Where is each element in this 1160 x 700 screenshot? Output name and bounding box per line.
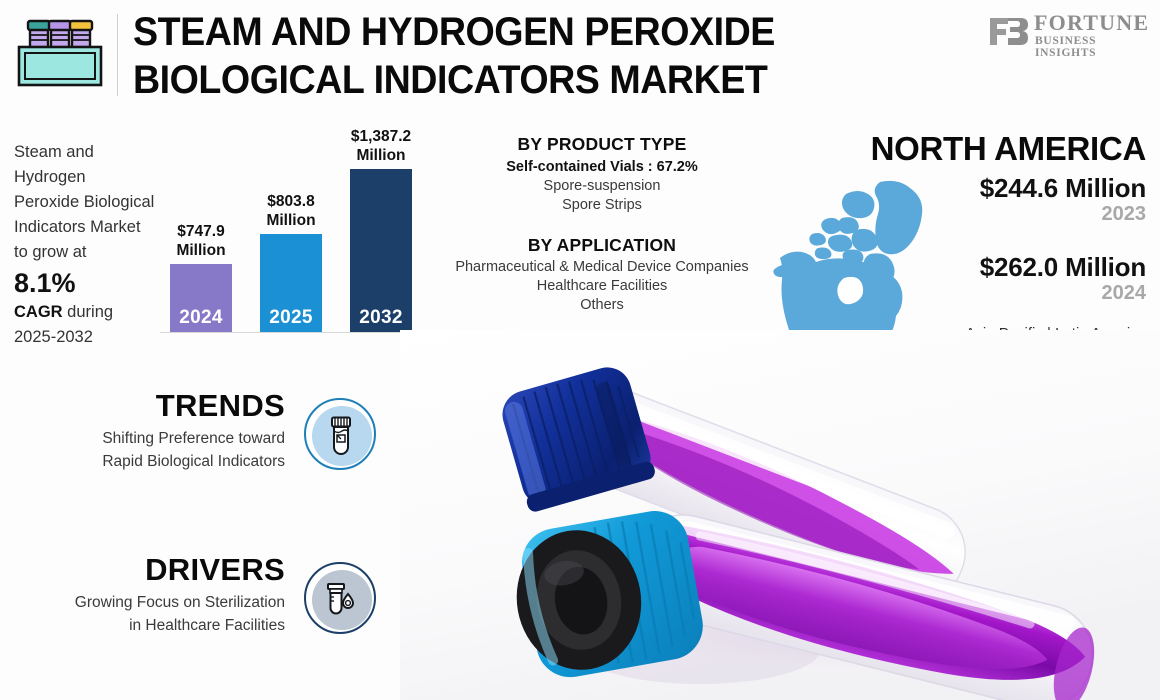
bar-year-2024: 2024 xyxy=(170,307,232,329)
bar-year-2025: 2025 xyxy=(260,307,322,329)
segments-panel: BY PRODUCT TYPE Self-contained Vials : 6… xyxy=(432,134,772,313)
drivers-icon-circle xyxy=(304,562,376,634)
test-tubes-photo xyxy=(400,330,1160,700)
title-line-2: BIOLOGICAL INDICATORS MARKET xyxy=(133,56,885,104)
market-summary-text: Steam and Hydrogen Peroxide Biological I… xyxy=(14,140,164,350)
product-type-item-0: Spore-suspension xyxy=(432,178,772,194)
application-item-0: Pharmaceutical & Medical Device Companie… xyxy=(432,259,772,275)
region-value-2024: $262.0 Million xyxy=(980,252,1146,283)
bar-value-label-2025: $803.8 Million xyxy=(266,193,315,234)
page-title: STEAM AND HYDROGEN PEROXIDE BIOLOGICAL I… xyxy=(133,8,933,104)
by-product-type-heading: BY PRODUCT TYPE xyxy=(432,134,772,155)
bar-group-2032: $1,387.2 Million 2032 xyxy=(350,169,412,332)
drivers-heading: DRIVERS xyxy=(0,552,285,588)
intro-line-3: Indicators Market xyxy=(14,218,141,236)
infographic-root: STEAM AND HYDROGEN PEROXIDE BIOLOGICAL I… xyxy=(0,0,1160,700)
application-item-1: Healthcare Facilities xyxy=(432,278,772,294)
header-divider xyxy=(117,14,118,96)
intro-line-2: Peroxide Biological xyxy=(14,193,154,211)
trends-text-line-2: Rapid Biological Indicators xyxy=(0,450,285,473)
intro-line-4: to grow at xyxy=(14,243,86,261)
cagr-value: 8.1% xyxy=(14,267,164,300)
logo-subtitle: BUSINESS INSIGHTS xyxy=(1035,35,1148,59)
bar-value-label-2024: $747.9 Million xyxy=(176,223,225,264)
bar-rect-2032: 2032 xyxy=(350,169,412,332)
region-value-2023: $244.6 Million xyxy=(980,173,1146,204)
drivers-block: DRIVERS Growing Focus on Sterilization i… xyxy=(0,552,285,637)
forecast-period: 2025-2032 xyxy=(14,328,93,346)
title-line-1: STEAM AND HYDROGEN PEROXIDE xyxy=(133,8,885,56)
bar-rect-2024: 2024 xyxy=(170,264,232,332)
region-title: NORTH AMERICA xyxy=(871,130,1146,168)
trends-block: TRENDS Shifting Preference toward Rapid … xyxy=(0,388,285,473)
logo-name: FORTUNE xyxy=(1034,10,1149,36)
intro-line-1: Steam and Hydrogen xyxy=(14,143,94,186)
by-application-heading: BY APPLICATION xyxy=(432,235,772,256)
cagr-during: during xyxy=(63,303,113,321)
test-tube-droplet-icon xyxy=(324,580,356,620)
product-type-lead: Self-contained Vials : 67.2% xyxy=(432,159,772,175)
bar-value-label-2032: $1,387.2 Million xyxy=(351,128,411,169)
fortune-business-insights-logo: FORTUNE BUSINESS INSIGHTS xyxy=(988,10,1148,56)
trends-text-line-1: Shifting Preference toward xyxy=(0,427,285,450)
test-tube-rack-icon xyxy=(14,12,106,96)
drivers-text-line-2: in Healthcare Facilities xyxy=(0,614,285,637)
trends-heading: TRENDS xyxy=(0,388,285,424)
test-tube-vial-icon xyxy=(326,416,356,456)
segments-spacer xyxy=(432,213,772,235)
region-year-2024: 2024 xyxy=(1102,282,1147,305)
bar-group-2025: $803.8 Million 2025 xyxy=(260,234,322,332)
product-type-item-1: Spore Strips xyxy=(432,197,772,213)
application-item-2: Others xyxy=(432,297,772,313)
cagr-label: CAGR xyxy=(14,303,63,321)
bar-group-2024: $747.9 Million 2024 xyxy=(170,264,232,332)
bar-year-2032: 2032 xyxy=(350,307,412,329)
bar-rect-2025: 2025 xyxy=(260,234,322,332)
market-size-bar-chart: $747.9 Million 2024 $803.8 Million 2025 … xyxy=(160,128,420,338)
region-year-2023: 2023 xyxy=(1102,203,1147,226)
drivers-text-line-1: Growing Focus on Sterilization xyxy=(0,591,285,614)
trends-icon-circle xyxy=(304,398,376,470)
fb-monogram-icon xyxy=(988,14,1028,48)
